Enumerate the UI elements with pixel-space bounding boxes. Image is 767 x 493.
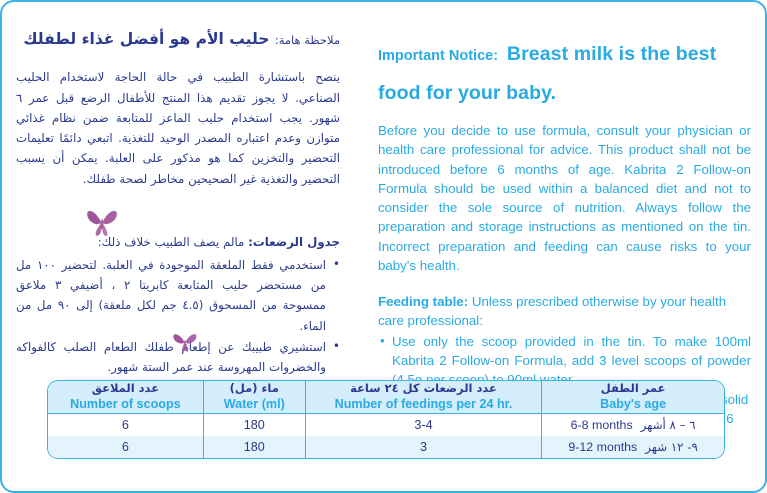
column-header-feedings: عدد الرضعات كل ٢٤ ساعة Number of feeding…: [306, 381, 543, 414]
bilingual-columns: ملاحظة هامة: حليب الأم هو أفضل غذاء لطفل…: [2, 2, 767, 374]
label-panel: ملاحظة هامة: حليب الأم هو أفضل غذاء لطفل…: [0, 0, 767, 493]
column-header-age-en: Baby's age: [542, 397, 724, 412]
arabic-bullet-item: استخدمي فقط الملعقة الموجودة في العلبة. …: [16, 255, 340, 336]
english-notice-heading: Important Notice: Breast milk is the bes…: [378, 30, 751, 108]
feeding-table-header: عدد الملاعق Number of scoops ماء (مل) Wa…: [48, 381, 724, 414]
column-header-water: ماء (مل) Water (ml): [204, 381, 306, 414]
english-feeding-heading: Feeding table: Unless prescribed otherwi…: [378, 292, 751, 331]
cell-age: 9-12 months ٩- ١٢ شهر: [542, 436, 724, 458]
cell-age-en: 6-8 months: [571, 418, 633, 432]
cell-water: 180: [204, 414, 306, 436]
english-column: Important Notice: Breast milk is the bes…: [362, 2, 767, 374]
arabic-title: ملاحظة هامة: حليب الأم هو أفضل غذاء لطفل…: [16, 28, 340, 51]
column-header-feedings-ar: عدد الرضعات كل ٢٤ ساعة: [306, 382, 542, 396]
feeding-table: عدد الملاعق Number of scoops ماء (مل) Wa…: [47, 380, 725, 459]
table-header-row: عدد الملاعق Number of scoops ماء (مل) Wa…: [48, 381, 724, 414]
cell-age-inner: 9-12 months ٩- ١٢ شهر: [542, 440, 724, 454]
english-notice-label: Important Notice:: [378, 48, 498, 64]
cell-age-inner: 6-8 months ٦ – ٨ أشهر: [542, 418, 724, 432]
table-row: 6 180 3-4 6-8 months ٦ – ٨ أشهر: [48, 414, 724, 436]
column-header-scoops: عدد الملاعق Number of scoops: [48, 381, 204, 414]
column-header-age: عمر الطفل Baby's age: [542, 381, 724, 414]
english-body-paragraph: Before you decide to use formula, consul…: [378, 121, 751, 275]
table-row: 6 180 3 9-12 months ٩- ١٢ شهر: [48, 436, 724, 458]
arabic-body-paragraph: ينصح باستشارة الطبيب في حالة الحاجة لاست…: [16, 67, 340, 189]
arabic-feeding-heading: جدول الرضعات: مالم يصف الطبيب خلاف ذلك:: [16, 233, 340, 252]
feeding-table-container: عدد الملاعق Number of scoops ماء (مل) Wa…: [47, 380, 725, 459]
english-spacer: [378, 275, 751, 292]
english-feeding-label: Feeding table:: [378, 294, 468, 309]
column-header-age-ar: عمر الطفل: [542, 382, 724, 396]
arabic-title-main: حليب الأم هو أفضل غذاء لطفلك: [23, 30, 269, 48]
arabic-feeding-rest: مالم يصف الطبيب خلاف ذلك:: [98, 235, 245, 249]
cell-scoops: 6: [48, 436, 204, 458]
column-header-water-ar: ماء (مل): [204, 382, 305, 396]
feeding-table-body: 6 180 3-4 6-8 months ٦ – ٨ أشهر 6 180 3: [48, 414, 724, 458]
arabic-bullet-item: استشيري طبيبك عن إطعام طفلك الطعام الصلب…: [16, 337, 340, 378]
arabic-title-lead: ملاحظة هامة:: [275, 33, 340, 47]
cell-age: 6-8 months ٦ – ٨ أشهر: [542, 414, 724, 436]
column-header-feedings-en: Number of feedings per 24 hr.: [306, 397, 542, 412]
cell-age-en: 9-12 months: [568, 440, 637, 454]
column-header-water-en: Water (ml): [204, 397, 305, 412]
arabic-bullet-list: استخدمي فقط الملعقة الموجودة في العلبة. …: [16, 255, 340, 378]
arabic-column: ملاحظة هامة: حليب الأم هو أفضل غذاء لطفل…: [2, 2, 362, 374]
column-header-scoops-ar: عدد الملاعق: [48, 382, 203, 396]
cell-scoops: 6: [48, 414, 204, 436]
arabic-spacer: [16, 189, 340, 233]
cell-age-ar: ٩- ١٢ شهر: [645, 440, 698, 454]
cell-water: 180: [204, 436, 306, 458]
cell-feedings: 3-4: [306, 414, 543, 436]
cell-feedings: 3: [306, 436, 543, 458]
column-header-scoops-en: Number of scoops: [48, 397, 203, 412]
arabic-feeding-label: جدول الرضعات:: [248, 235, 340, 249]
cell-age-ar: ٦ – ٨ أشهر: [641, 418, 696, 432]
